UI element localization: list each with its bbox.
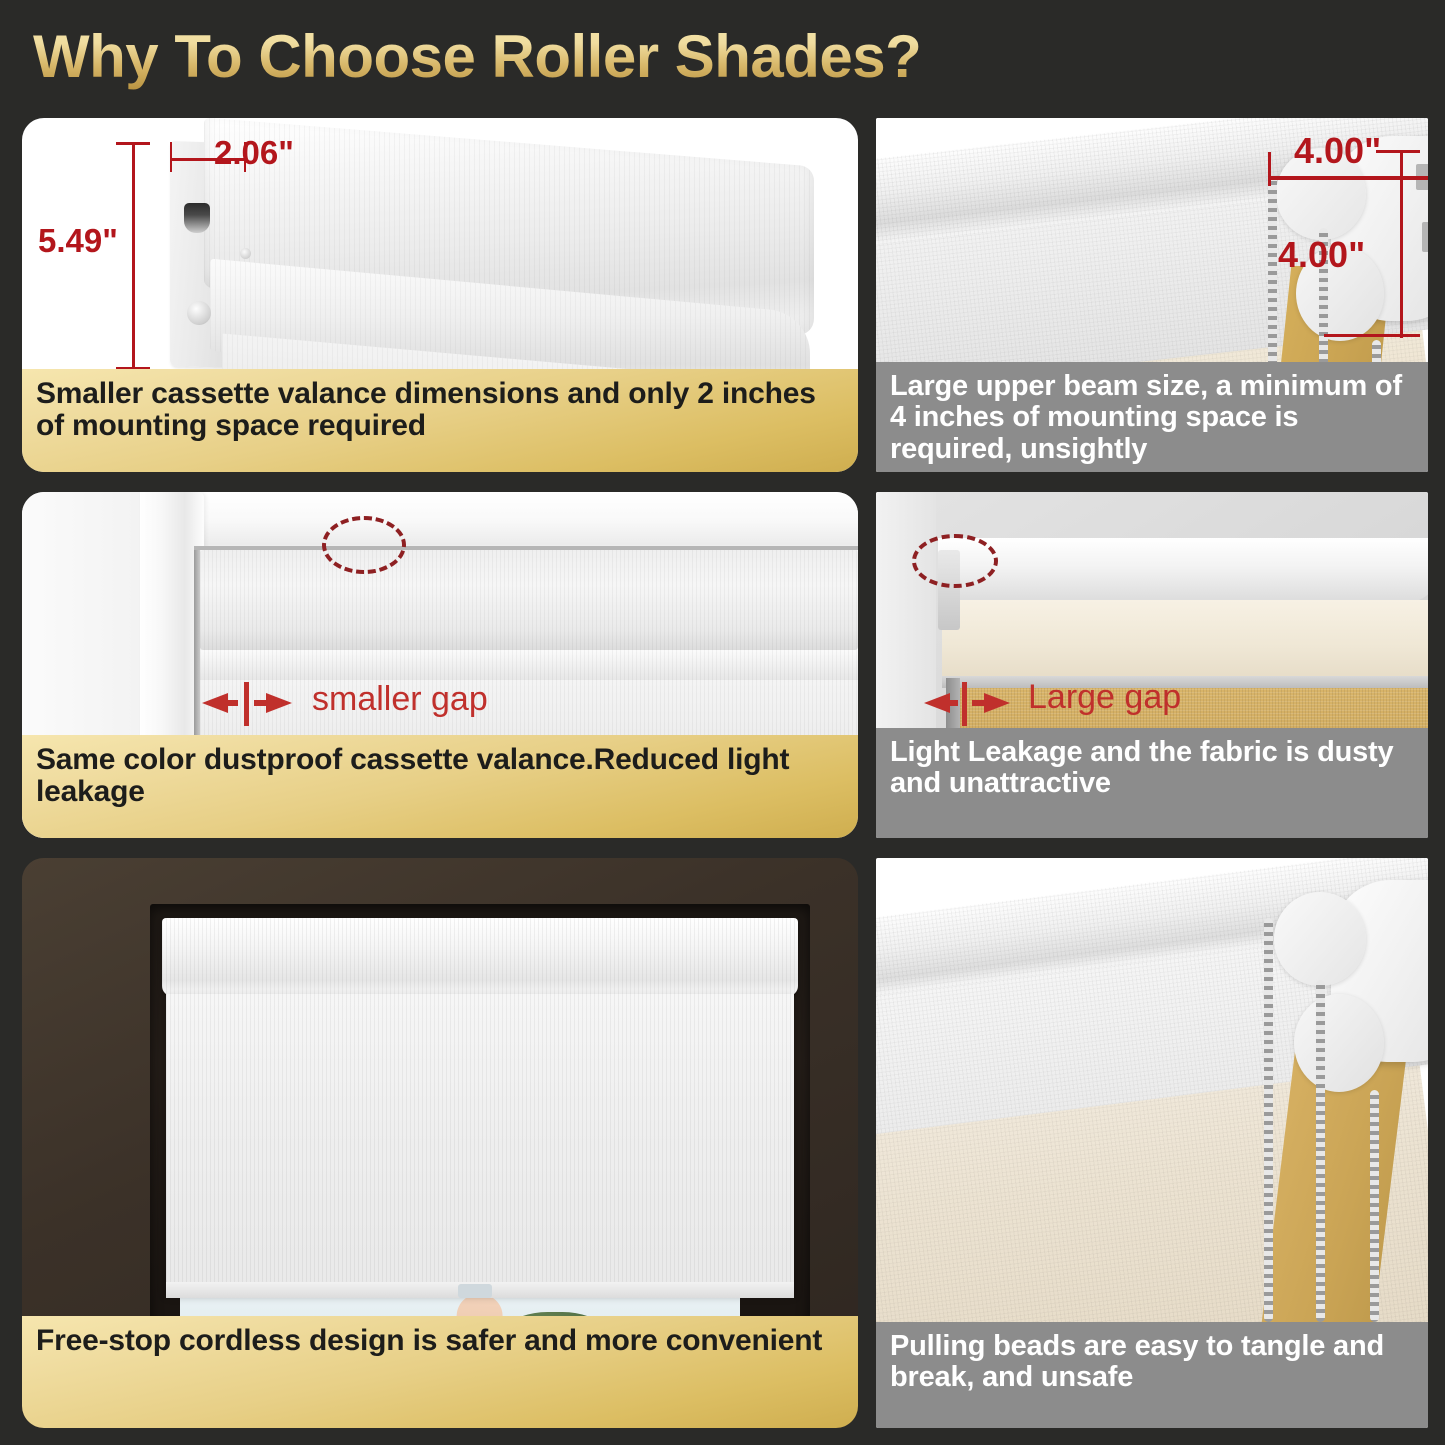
- beam-height-label: 4.00": [1278, 234, 1365, 276]
- height-dimension-label: 5.49": [38, 222, 118, 260]
- bracket-notch-top: [876, 858, 892, 886]
- cassette-valance: [162, 918, 798, 996]
- panel-caption-text: Pulling beads are easy to tangle and bre…: [890, 1330, 1384, 1393]
- panel-caption: Same color dustproof cassette valance.Re…: [22, 735, 858, 838]
- beam-height-tick-top: [1376, 150, 1420, 153]
- width-dimension-label: 2.06": [214, 134, 294, 172]
- panel-caption: Light Leakage and the fabric is dusty an…: [876, 728, 1428, 838]
- bracket-notch-bottom: [1422, 222, 1428, 252]
- bracket-notch-bottom: [876, 886, 888, 918]
- panel-caption: Pulling beads are easy to tangle and bre…: [876, 1322, 1428, 1428]
- smaller-gap-label: smaller gap: [312, 680, 488, 719]
- bead-chain-right: [1370, 1090, 1379, 1322]
- panel-caption-text: Free-stop cordless design is safer and m…: [36, 1324, 822, 1357]
- panel-caption-text: Same color dustproof cassette valance.Re…: [36, 743, 789, 808]
- bead-chain-mid: [1316, 980, 1325, 1322]
- bead-chain-left: [1264, 918, 1273, 1322]
- panel-pulling-beads[interactable]: Pulling beads are easy to tangle and bre…: [876, 858, 1428, 1428]
- panel-large-upper-beam[interactable]: 4.00" 4.00" Large upper beam size, a min…: [876, 118, 1428, 472]
- cassette-valance: [200, 550, 858, 650]
- gap-arrow-right-icon: [254, 688, 314, 718]
- comparison-grid: 2.06" 5.49" Smaller cassette valance dim…: [0, 118, 1445, 1428]
- bracket-screw-upper: [240, 248, 251, 259]
- gap-arrow-right-icon: [972, 688, 1032, 718]
- beam-height-tick-bottom: [1324, 334, 1420, 337]
- highlight-ellipse-icon: [322, 516, 406, 574]
- cream-valance: [942, 600, 1428, 678]
- panel-caption-text: Light Leakage and the fabric is dusty an…: [890, 736, 1393, 799]
- panel-cordless-design[interactable]: Free-stop cordless design is safer and m…: [22, 858, 858, 1428]
- beam-width-label: 4.00": [1294, 130, 1381, 172]
- roller-end-lower: [1294, 994, 1384, 1092]
- beam-height-line: [1400, 150, 1403, 338]
- large-gap-label: Large gap: [1028, 678, 1181, 717]
- window-frame-top: [140, 492, 858, 554]
- bracket-screw-lower: [187, 301, 211, 325]
- valance-edge: [942, 676, 1428, 688]
- highlight-ellipse-icon: [912, 534, 998, 588]
- bracket-slot: [184, 203, 210, 233]
- gap-marker: [962, 682, 967, 726]
- beam-width-tick-left: [1268, 152, 1271, 186]
- panel-dustproof-valance[interactable]: smaller gap Same color dustproof cassett…: [22, 492, 858, 838]
- beam-width-line: [1268, 176, 1428, 180]
- shade-fabric: [166, 994, 794, 1292]
- panel-smaller-cassette[interactable]: 2.06" 5.49" Smaller cassette valance dim…: [22, 118, 858, 472]
- panel-caption: Smaller cassette valance dimensions and …: [22, 369, 858, 472]
- width-dim-tick-left: [170, 142, 172, 172]
- panel-light-leakage[interactable]: Large gap Light Leakage and the fabric i…: [876, 492, 1428, 838]
- height-dim-line: [132, 142, 135, 370]
- roller-end-upper: [1274, 892, 1366, 986]
- height-dim-tick-top: [116, 142, 150, 145]
- panel-caption-text: Large upper beam size, a minimum of 4 in…: [890, 370, 1402, 465]
- header-bar: Why To Choose Roller Shades?: [0, 0, 1445, 118]
- page-title: Why To Choose Roller Shades?: [33, 22, 921, 91]
- pull-tab: [458, 1284, 492, 1298]
- panel-caption-text: Smaller cassette valance dimensions and …: [36, 377, 816, 442]
- upper-beam: [938, 538, 1428, 602]
- valance-rail: [200, 650, 858, 680]
- gap-marker: [244, 682, 249, 726]
- panel-caption: Free-stop cordless design is safer and m…: [22, 1316, 858, 1428]
- panel-caption: Large upper beam size, a minimum of 4 in…: [876, 362, 1428, 472]
